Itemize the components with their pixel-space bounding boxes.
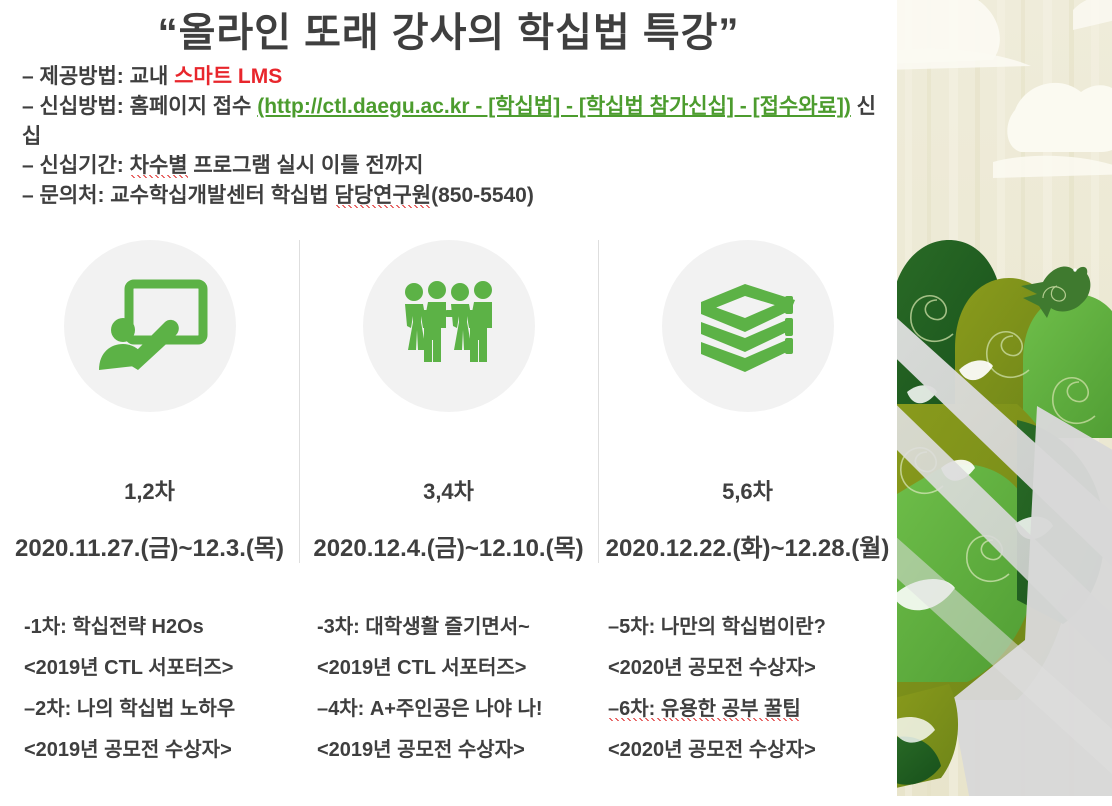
list-item: –4차: A+주인공은 나야 나! [317, 689, 598, 730]
column-body-2: -3차: 대학생활 즐기면서~ <2019년 CTL 서포터즈> –4차: A+… [299, 607, 598, 771]
bullet-application-method: – 신십방법: 홈페이지 접수 (http://ctl.daegu.ac.kr … [22, 92, 877, 152]
icon-circle-1 [64, 240, 236, 412]
application-period-prefix: – 신십기간: [22, 154, 130, 177]
program-columns: 1,2차 2020.11.27.(금)~12.3.(목) -1차: 학십전략 H… [0, 232, 897, 792]
delivery-method-label: – 제공방법: 교내 [22, 65, 174, 88]
column-round-label-2: 3,4차 [423, 474, 474, 506]
column-body-3: –5차: 나만의 학십법이란? <2020년 공모전 수상자> –6차: 유용한… [598, 607, 897, 771]
group-of-people-icon [397, 280, 501, 372]
bullet-delivery-method: – 제공방법: 교내 스마트 LMS [22, 62, 877, 92]
program-column-1: 1,2차 2020.11.27.(금)~12.3.(목) -1차: 학십전략 H… [0, 232, 299, 792]
application-period-suffix: 프로그램 실시 이틀 전까지 [188, 154, 424, 177]
list-item-text: –6차: 유용한 공부 꿀팁 [608, 698, 801, 721]
icon-circle-3 [662, 240, 834, 412]
list-item: -3차: 대학생활 즐기면서~ [317, 607, 598, 648]
info-bullets: – 제공방법: 교내 스마트 LMS – 신십방법: 홈페이지 접수 (http… [0, 56, 897, 211]
list-item: –6차: 유용한 공부 꿀팁 [608, 689, 897, 730]
program-column-2: 3,4차 2020.12.4.(금)~12.10.(목) -3차: 대학생활 즐… [299, 232, 598, 792]
program-column-3: 5,6차 2020.12.22.(화)~12.28.(월) –5차: 나만의 학… [598, 232, 897, 792]
poster-header: “올라인 또래 강사의 학십법 특강” – 제공방법: 교내 스마트 LMS –… [0, 0, 897, 211]
delivery-method-value: 스마트 LMS [174, 65, 282, 88]
column-date-1: 2020.11.27.(금)~12.3.(목) [15, 528, 284, 563]
contact-prefix: – 문의처: 교수학십개발센터 학십법 [22, 184, 335, 207]
list-item: <2019년 CTL 서포터즈> [24, 648, 299, 689]
list-item: <2019년 공모전 수상자> [317, 730, 598, 771]
column-date-2: 2020.12.4.(금)~12.10.(목) [313, 528, 583, 563]
icon-circle-2 [363, 240, 535, 412]
list-item: <2020년 공모전 수상자> [608, 730, 897, 771]
application-url-link[interactable]: (http://ctl.daegu.ac.kr - [학십법] - [학십법 참… [257, 95, 851, 118]
column-body-1: -1차: 학십전략 H2Os <2019년 CTL 서포터즈> –2차: 나의 … [0, 607, 299, 771]
page-title: “올라인 또래 강사의 학십법 특강” [0, 0, 897, 56]
stack-of-books-icon [695, 278, 801, 374]
contact-phone: (850-5540) [431, 184, 534, 207]
application-method-label: – 신십방법: 홈페이지 접수 [22, 95, 257, 118]
list-item: –2차: 나의 학십법 노하우 [24, 689, 299, 730]
list-item: <2020년 공모전 수상자> [608, 648, 897, 689]
poster-slide: “올라인 또래 강사의 학십법 특강” – 제공방법: 교내 스마트 LMS –… [0, 0, 1112, 806]
list-item: –5차: 나만의 학십법이란? [608, 607, 897, 648]
list-item: -1차: 학십전략 H2Os [24, 607, 299, 648]
column-round-label-3: 5,6차 [722, 474, 773, 506]
column-round-label-1: 1,2차 [124, 474, 175, 506]
application-period-spellcheck-word: 차수별 [130, 154, 188, 178]
decorative-nature-panel [897, 0, 1112, 806]
column-date-3: 2020.12.22.(화)~12.28.(월) [606, 528, 890, 563]
list-item: <2019년 CTL 서포터즈> [317, 648, 598, 689]
contact-spellcheck-word: 담당연구원 [335, 184, 432, 208]
instructor-whiteboard-icon [91, 278, 209, 374]
list-item: <2019년 공모전 수상자> [24, 730, 299, 771]
bullet-application-period: – 신십기간: 차수별 프로그램 실시 이틀 전까지 [22, 151, 877, 181]
bullet-contact: – 문의처: 교수학십개발센터 학십법 담당연구원(850-5540) [22, 181, 877, 211]
